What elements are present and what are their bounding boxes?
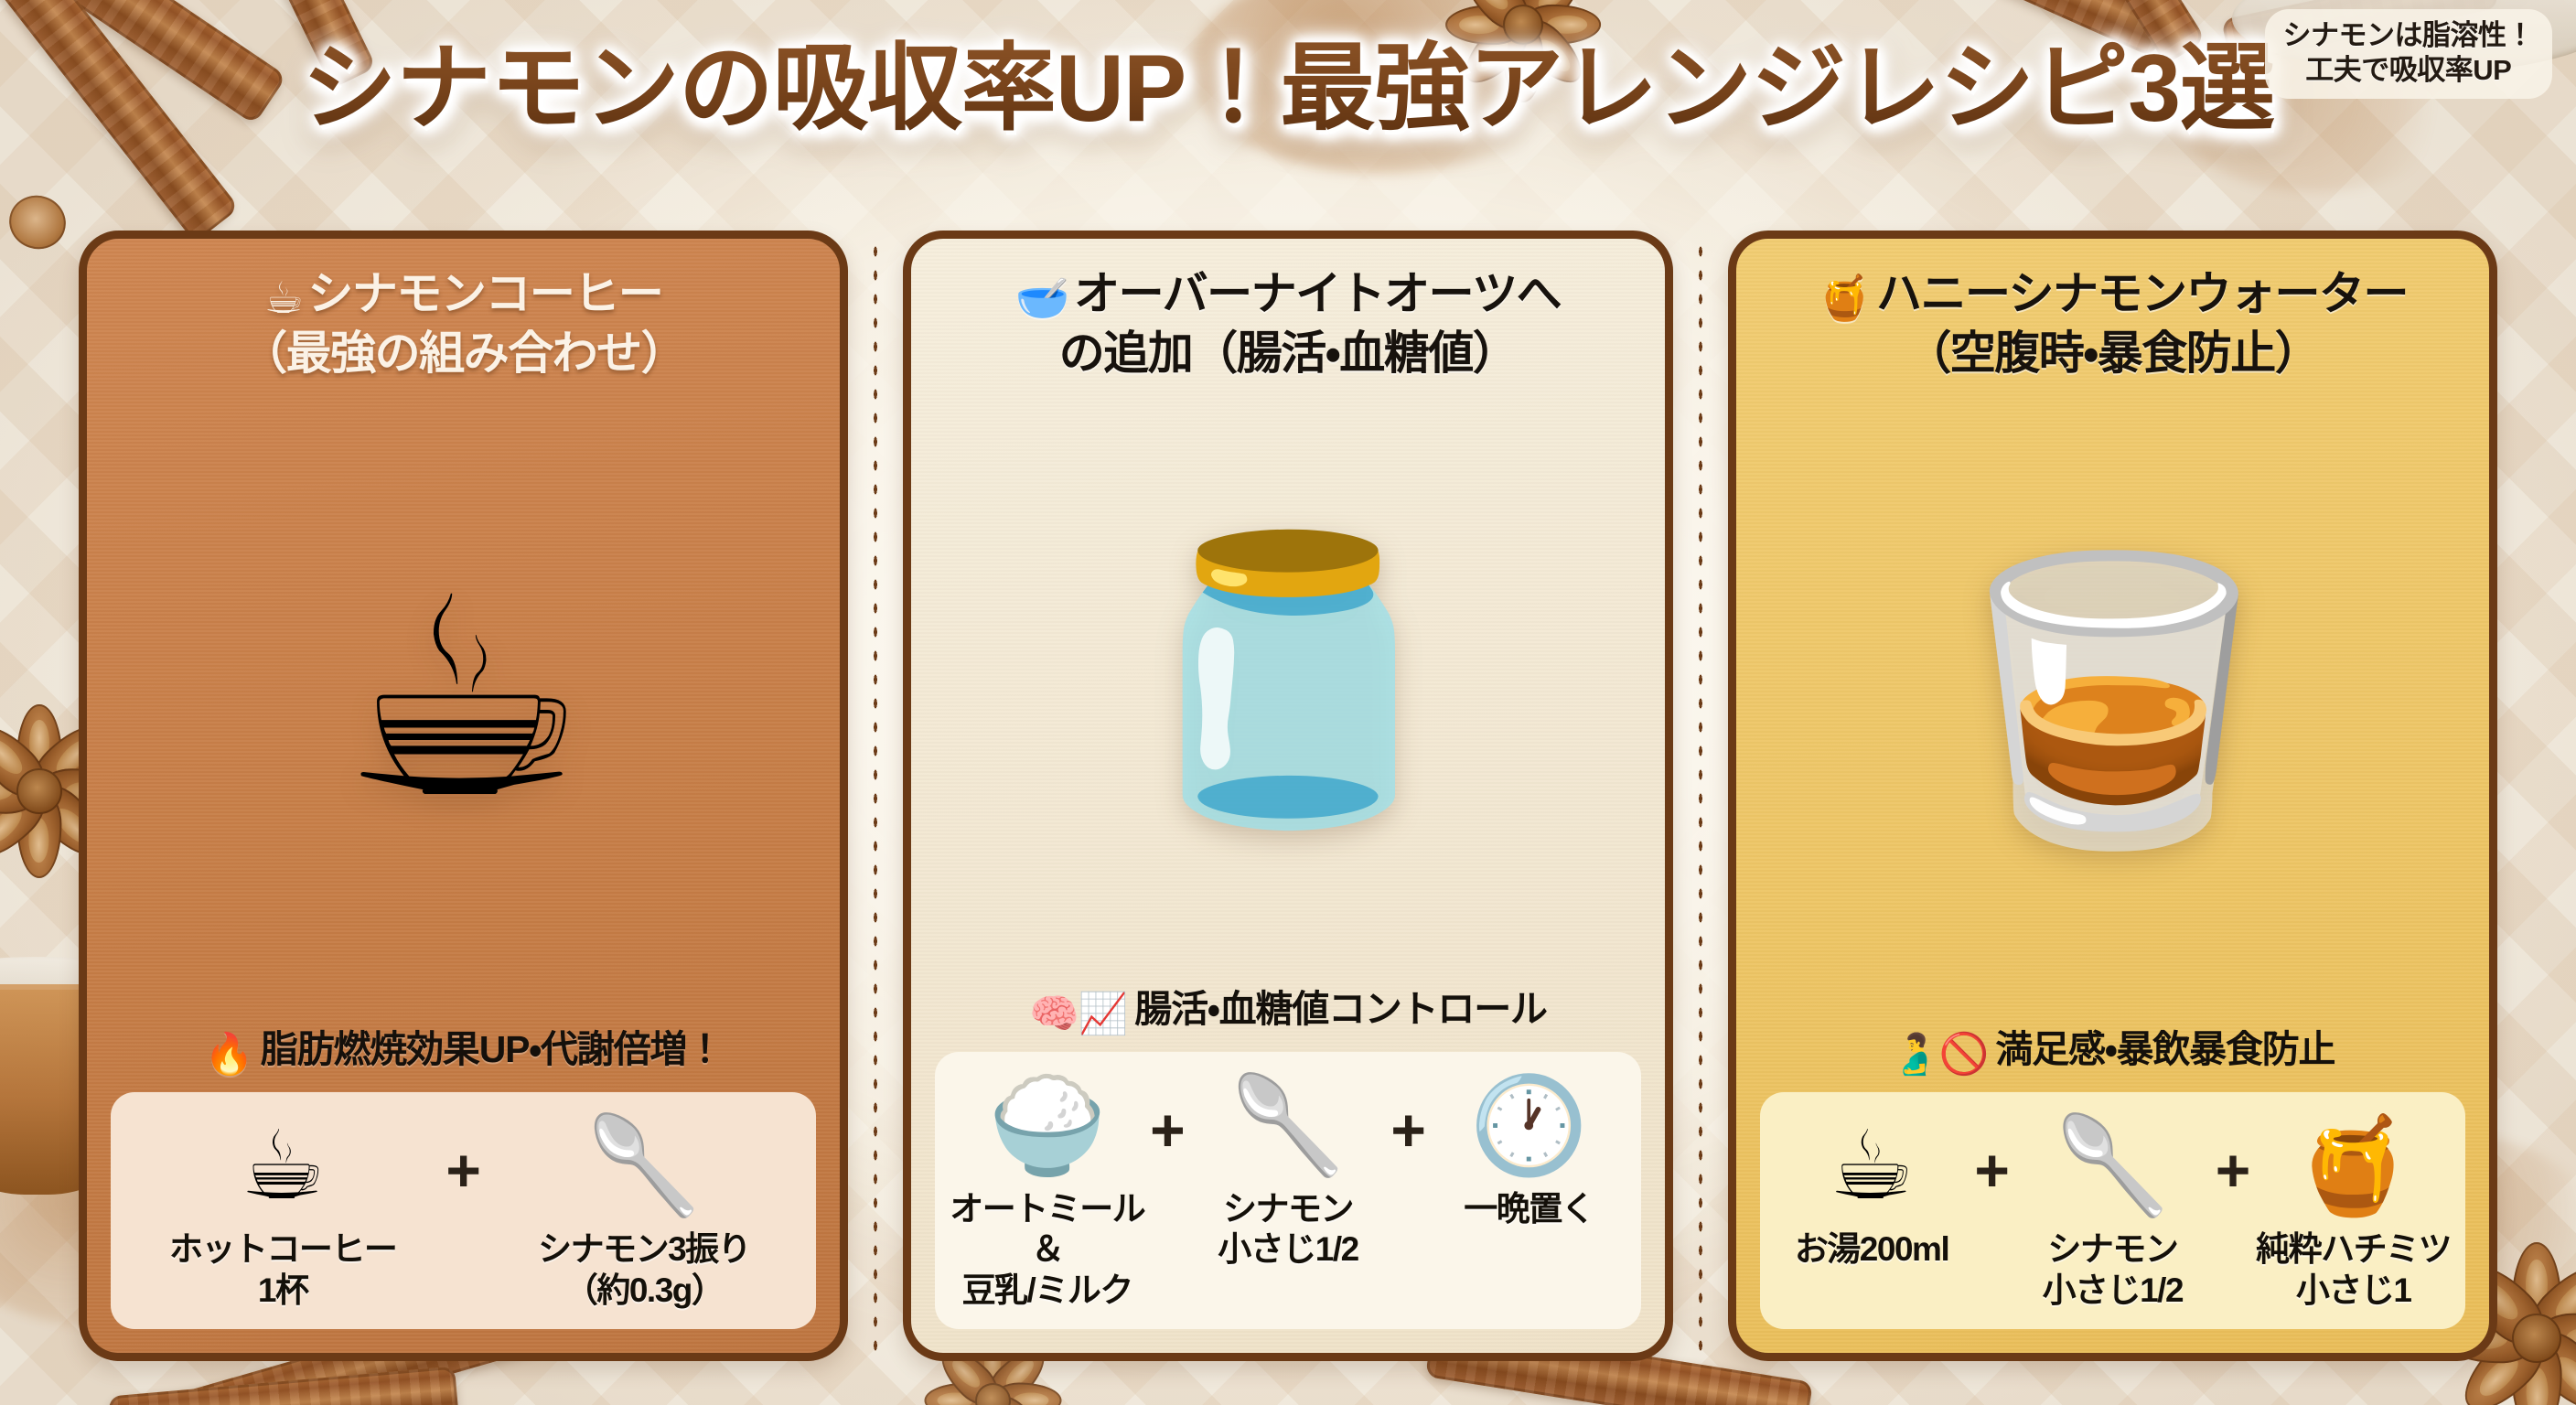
- card-column-1: ☕シナモンコーヒー （最強の組み合わせ） ☕ 🔥脂肪燃焼効果UP・代謝倍増！ ☕…: [53, 231, 874, 1361]
- ingredient-item: 🥄 シナモン3振り （約0.3g）: [485, 1112, 803, 1311]
- ingredient-item: 🕐 一晩置く: [1430, 1072, 1628, 1229]
- stomach-and-no-drink-icon: 🫃🚫: [1890, 1032, 1988, 1077]
- plus-separator: +: [2216, 1140, 2251, 1200]
- card-3-heading: 🍯ハニーシナモンウォーター （空腹時・暴食防止）: [1760, 263, 2465, 382]
- card-3-hero-illustration: 🥃: [1760, 382, 2465, 1014]
- cinnamon-spoon-icon: 🥄: [585, 1112, 703, 1220]
- ingredient-item: 🍚 オートミール＆ 豆乳/ミルク: [948, 1072, 1146, 1311]
- card-3-benefit: 🫃🚫満足感・暴飲暴食防止: [1760, 1013, 2465, 1092]
- ingredient-label: 純粋ハチミツ 小さじ1: [2256, 1229, 2451, 1311]
- card-1-hero-illustration: ☕: [111, 382, 816, 1014]
- card-2-recipe-box: 🍚 オートミール＆ 豆乳/ミルク + 🥄 シナモン 小さじ1/2 + 🕐 一晩置…: [935, 1052, 1640, 1329]
- card-1-recipe-box: ☕ ホットコーヒー 1杯 + 🥄 シナモン3振り （約0.3g）: [111, 1092, 816, 1329]
- card-2-title-line-1: オーバーナイトオーツへ: [1074, 268, 1561, 319]
- card-3-title-line-1: ハニーシナモンウォーター: [1876, 268, 2408, 319]
- card-2-benefit-text: 腸活・血糖値コントロール: [1134, 988, 1547, 1030]
- honey-jar-icon: 🍯: [1818, 274, 1871, 323]
- intestine-and-chart-icon: 🧠📈: [1029, 992, 1127, 1036]
- card-1-benefit-text: 脂肪燃焼効果UP・代謝倍増！: [261, 1028, 723, 1070]
- ingredient-item: 🥄 シナモン 小さじ1/2: [1189, 1072, 1388, 1271]
- badge-line-2: 工夫で吸収率UP: [2283, 53, 2535, 88]
- cinnamon-spoon-icon: 🥄: [2054, 1112, 2173, 1220]
- plus-separator: +: [1150, 1099, 1186, 1160]
- card-1-benefit: 🔥脂肪燃焼効果UP・代謝倍増！: [111, 1013, 816, 1092]
- ingredient-label: オートミール＆ 豆乳/ミルク: [948, 1189, 1146, 1311]
- card-3-recipe-box: ☕ お湯200ml + 🥄 シナモン 小さじ1/2 + 🍯 純粋ハチミツ 小さじ…: [1760, 1092, 2465, 1329]
- cinnamon-spoon-icon: 🥄: [1229, 1072, 1347, 1180]
- card-2-hero-illustration: 🫙: [935, 382, 1640, 972]
- ingredient-item: 🥄 シナモン 小さじ1/2: [2013, 1112, 2212, 1311]
- infographic-poster: シナモンの吸収率UP！最強アレンジレシピ3選 シナモンは脂溶性！ 工夫で吸収率U…: [0, 0, 2576, 1405]
- card-column-2: 🥣オーバーナイトオーツへ の追加（腸活・血糖値） 🫙 🧠📈腸活・血糖値コントロー…: [877, 231, 1698, 1361]
- ingredient-item: 🍯 純粋ハチミツ 小さじ1: [2254, 1112, 2453, 1311]
- recipe-card-row: ☕シナモンコーヒー （最強の組み合わせ） ☕ 🔥脂肪燃焼効果UP・代謝倍増！ ☕…: [53, 231, 2523, 1361]
- flame-icon: 🔥: [204, 1032, 253, 1077]
- card-1-title-line-1: シナモンコーヒー: [307, 268, 662, 319]
- oat-bowl-icon: 🥣: [1015, 274, 1068, 323]
- recipe-card-honey-cinnamon-water[interactable]: 🍯ハニーシナモンウォーター （空腹時・暴食防止） 🥃 🫃🚫満足感・暴飲暴食防止 …: [1728, 231, 2497, 1361]
- ingredient-item: ☕ ホットコーヒー 1杯: [123, 1112, 442, 1311]
- recipe-card-cinnamon-coffee[interactable]: ☕シナモンコーヒー （最強の組み合わせ） ☕ 🔥脂肪燃焼効果UP・代謝倍増！ ☕…: [79, 231, 848, 1361]
- oatmeal-bowl-icon: 🍚: [988, 1072, 1107, 1180]
- overnight-oats-jar-illustration: 🫙: [1117, 542, 1459, 816]
- ingredient-label: ホットコーヒー 1杯: [169, 1229, 397, 1311]
- plus-separator: +: [1390, 1099, 1426, 1160]
- ingredient-item: ☕ お湯200ml: [1773, 1112, 1971, 1270]
- honey-water-glass-illustration: 🥃: [1942, 562, 2284, 836]
- badge-line-1: シナモンは脂溶性！: [2283, 18, 2535, 53]
- ingredient-label: シナモン 小さじ1/2: [1218, 1189, 1358, 1271]
- coffee-cup-icon: ☕: [264, 274, 303, 323]
- card-3-benefit-text: 満足感・暴飲暴食防止: [1995, 1028, 2334, 1070]
- card-2-title-line-2: の追加（腸活・血糖値）: [935, 326, 1640, 382]
- page-title-container: シナモンの吸収率UP！最強アレンジレシピ3選: [0, 38, 2576, 139]
- ingredient-label: シナモン3振り （約0.3g）: [538, 1229, 750, 1311]
- card-2-heading: 🥣オーバーナイトオーツへ の追加（腸活・血糖値）: [935, 263, 1640, 382]
- recipe-card-overnight-oats[interactable]: 🥣オーバーナイトオーツへ の追加（腸活・血糖値） 🫙 🧠📈腸活・血糖値コントロー…: [903, 231, 1672, 1361]
- honey-jar-icon: 🍯: [2294, 1112, 2413, 1220]
- status-badge: シナモンは脂溶性！ 工夫で吸収率UP: [2265, 9, 2553, 99]
- card-1-heading: ☕シナモンコーヒー （最強の組み合わせ）: [111, 263, 816, 382]
- clock-icon: 🕐: [1470, 1072, 1589, 1180]
- card-column-3: 🍯ハニーシナモンウォーター （空腹時・暴食防止） 🥃 🫃🚫満足感・暴飲暴食防止 …: [1702, 231, 2523, 1361]
- card-1-title-line-2: （最強の組み合わせ）: [111, 326, 816, 382]
- hot-water-cup-icon: ☕: [1829, 1112, 1914, 1220]
- page-title: シナモンの吸収率UP！最強アレンジレシピ3選: [302, 38, 2274, 139]
- hot-coffee-cup-icon: ☕: [241, 1112, 326, 1220]
- ingredient-label: シナモン 小さじ1/2: [2043, 1229, 2183, 1311]
- latte-with-cinnamon-stick-illustration: ☕: [340, 562, 586, 836]
- ingredient-label: お湯200ml: [1795, 1229, 1948, 1270]
- card-2-benefit: 🧠📈腸活・血糖値コントロール: [935, 972, 1640, 1052]
- card-3-title-line-2: （空腹時・暴食防止）: [1760, 326, 2465, 382]
- plus-separator: +: [445, 1140, 481, 1200]
- plus-separator: +: [1974, 1140, 2010, 1200]
- ingredient-label: 一晩置く: [1464, 1189, 1594, 1229]
